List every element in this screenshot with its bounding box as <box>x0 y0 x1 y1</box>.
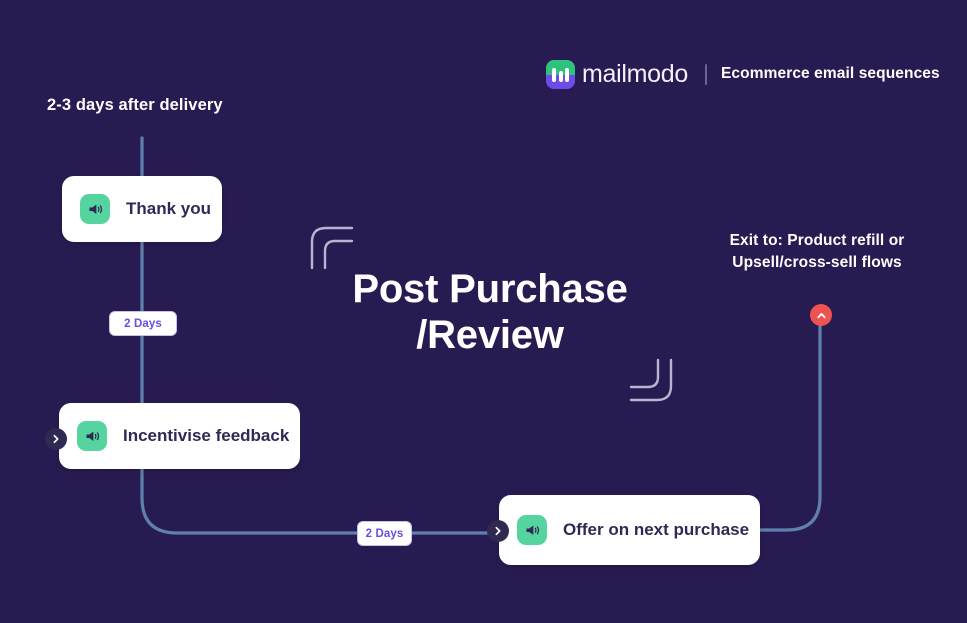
chevron-right-node-offer[interactable] <box>487 520 509 542</box>
exit-label-line-2: Upsell/cross-sell flows <box>732 254 901 271</box>
brand-wordmark: mailmodo <box>582 62 688 87</box>
page-title: Post Purchase /Review <box>300 266 680 358</box>
megaphone-icon <box>517 515 547 545</box>
flow-card-label: Incentivise feedback <box>123 426 289 446</box>
delay-badge[interactable]: 2 Days <box>109 311 177 336</box>
flow-card-thank-you[interactable]: Thank you <box>62 176 222 242</box>
flow-diagram-canvas: mailmodo Ecommerce email sequences 2-3 d… <box>0 0 967 623</box>
exit-label-line-1: Exit to: Product refill or <box>730 232 905 249</box>
mailmodo-logo-icon <box>546 60 575 89</box>
chevron-up-node-exit[interactable] <box>810 304 832 326</box>
megaphone-icon <box>77 421 107 451</box>
chevron-right-icon <box>493 526 503 536</box>
logo-bar-1 <box>552 68 556 82</box>
brand-header: mailmodo Ecommerce email sequences <box>546 58 940 90</box>
page-title-line-2: /Review <box>416 313 564 357</box>
chevron-right-node-left[interactable] <box>45 428 67 450</box>
top-timing-label: 2-3 days after delivery <box>47 96 223 115</box>
brand-tagline: Ecommerce email sequences <box>721 65 940 83</box>
logo-bar-3 <box>565 68 569 82</box>
flow-card-incentivise-feedback[interactable]: Incentivise feedback <box>59 403 300 469</box>
chevron-up-icon <box>816 310 827 321</box>
flow-card-label: Offer on next purchase <box>563 520 749 540</box>
exit-label: Exit to: Product refill or Upsell/cross-… <box>706 230 928 274</box>
decorative-arc-top <box>308 222 356 270</box>
decorative-arc-middle <box>627 358 675 406</box>
page-title-line-1: Post Purchase <box>352 267 627 311</box>
flow-card-offer-on-next-purchase[interactable]: Offer on next purchase <box>499 495 760 565</box>
delay-badge[interactable]: 2 Days <box>357 521 412 546</box>
logo-bar-2 <box>559 71 563 82</box>
brand-divider <box>705 64 707 85</box>
chevron-right-icon <box>51 434 61 444</box>
flow-card-label: Thank you <box>126 199 211 219</box>
megaphone-icon <box>80 194 110 224</box>
